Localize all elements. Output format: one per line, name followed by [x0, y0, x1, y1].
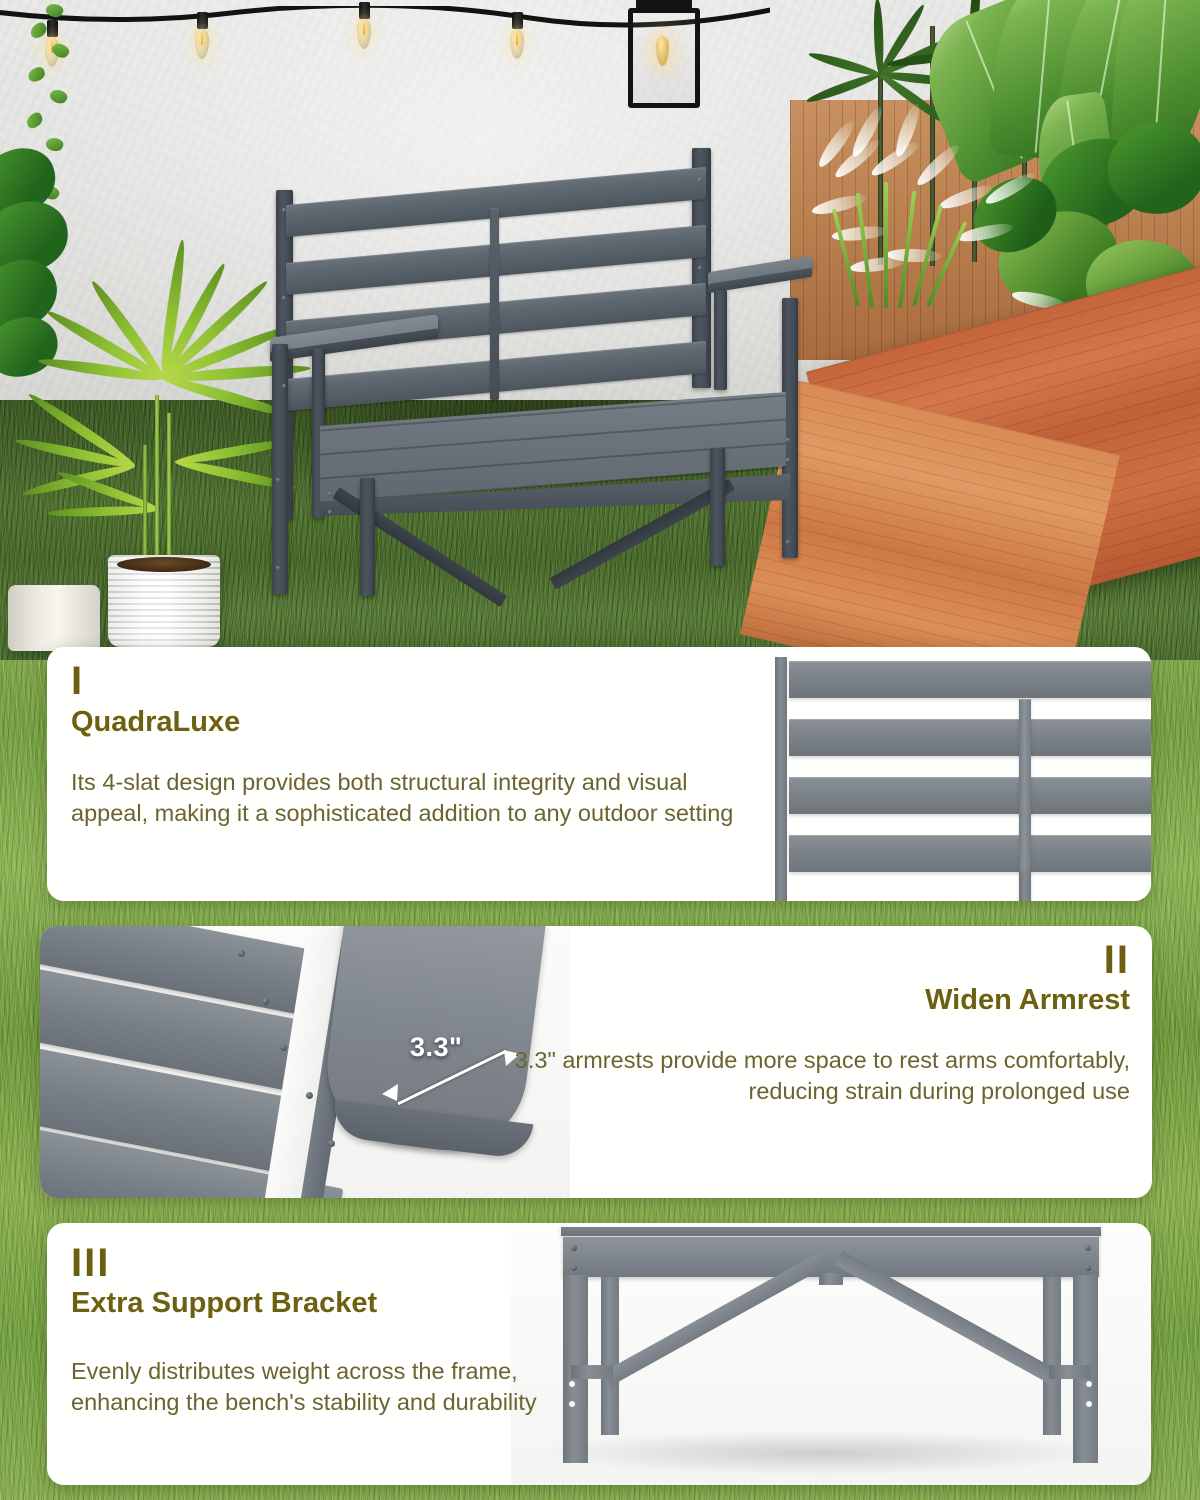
feature-3-body: Evenly distributes weight across the fra… — [71, 1356, 591, 1419]
feature-2-numeral: II — [500, 940, 1130, 980]
dimension-label: 3.3" — [410, 1032, 462, 1063]
cage-lantern-icon — [628, 8, 700, 108]
feature-2-text-block: II Widen Armrest 3.3" armrests provide m… — [500, 940, 1130, 1107]
feature-3-text-block: III Extra Support Bracket Evenly distrib… — [71, 1243, 591, 1418]
outdoor-bench-product — [262, 148, 822, 620]
feature-card-3: III Extra Support Bracket Evenly distrib… — [47, 1223, 1151, 1485]
armrest-closeup-detail-image: 3.3" — [40, 926, 570, 1198]
feature-3-numeral: III — [71, 1243, 591, 1283]
feature-3-title: Extra Support Bracket — [71, 1288, 591, 1320]
feature-1-title: QuadraLuxe — [71, 707, 771, 739]
feature-1-text-block: I QuadraLuxe Its 4-slat design provides … — [71, 661, 771, 829]
backrest-slats-detail-image — [761, 647, 1151, 901]
feature-2-body: 3.3" armrests provide more space to rest… — [500, 1045, 1130, 1108]
feature-1-numeral: I — [71, 661, 771, 701]
hero-product-photo — [0, 0, 1200, 660]
light-bulb-icon — [510, 12, 524, 59]
feature-card-1: I QuadraLuxe Its 4-slat design provides … — [47, 647, 1151, 901]
stone-planter — [8, 585, 100, 651]
light-bulb-icon — [357, 2, 371, 49]
support-bracket-detail-image — [511, 1223, 1151, 1485]
feature-1-body: Its 4-slat design provides both structur… — [71, 767, 771, 830]
feature-2-title: Widen Armrest — [500, 985, 1130, 1017]
feature-card-2: 3.3" II Widen Armrest 3.3" armrests prov… — [40, 926, 1152, 1198]
white-ribbed-planter — [108, 555, 220, 647]
light-bulb-icon — [195, 12, 209, 59]
